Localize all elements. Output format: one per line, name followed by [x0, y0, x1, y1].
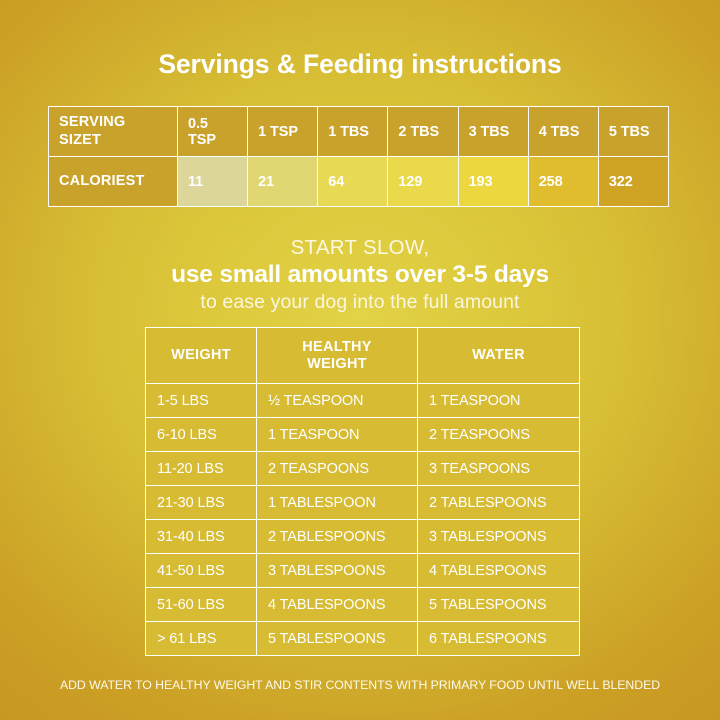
footer-note: ADD WATER TO HEALTHY WEIGHT AND STIR CON…: [0, 678, 720, 692]
feeding-table-row: 41-50 LBS3 TABLESPOONS4 TABLESPOONS: [146, 554, 580, 588]
serving-size-cell: 4 TBS: [528, 107, 598, 157]
calories-cell: 258: [528, 157, 598, 207]
feeding-table-row: 21-30 LBS1 TABLESPOON2 TABLESPOONS: [146, 486, 580, 520]
feeding-row-healthy-weight: 2 TABLESPOONS: [257, 520, 418, 554]
callout-line-3: to ease your dog into the full amount: [0, 291, 720, 314]
feeding-row-water: 1 TEASPOON: [418, 384, 580, 418]
callout-line-1: START SLOW,: [0, 236, 720, 260]
serving-size-cell: 1 TSP: [248, 107, 318, 157]
serving-size-row: SERVING SIZET 0.5 TSP 1 TSP 1 TBS 2 TBS …: [49, 107, 669, 157]
feeding-table: WEIGHT HEALTHY WEIGHT WATER 1-5 LBS½ TEA…: [145, 327, 580, 656]
feeding-table-container: WEIGHT HEALTHY WEIGHT WATER 1-5 LBS½ TEA…: [145, 327, 579, 656]
calories-cell: 193: [458, 157, 528, 207]
calories-row: CALORIEST 11 21 64 129 193 258 322: [49, 157, 669, 207]
serving-size-cell: 2 TBS: [388, 107, 458, 157]
header-weight: WEIGHT: [146, 328, 257, 384]
feeding-table-body: WEIGHT HEALTHY WEIGHT WATER 1-5 LBS½ TEA…: [146, 328, 580, 656]
feeding-row-healthy-weight: 1 TEASPOON: [257, 418, 418, 452]
feeding-table-row: 51-60 LBS4 TABLESPOONS5 TABLESPOONS: [146, 588, 580, 622]
start-slow-callout: START SLOW, use small amounts over 3-5 d…: [0, 236, 720, 315]
serving-size-cell: 0.5 TSP: [178, 107, 248, 157]
header-healthy-weight-line2: WEIGHT: [307, 356, 367, 372]
serving-size-cell: 5 TBS: [598, 107, 668, 157]
feeding-table-row: 31-40 LBS2 TABLESPOONS3 TABLESPOONS: [146, 520, 580, 554]
feeding-row-healthy-weight: ½ TEASPOON: [257, 384, 418, 418]
feeding-table-row: 1-5 LBS½ TEASPOON1 TEASPOON: [146, 384, 580, 418]
feeding-row-water: 4 TABLESPOONS: [418, 554, 580, 588]
header-healthy-weight: HEALTHY WEIGHT: [257, 328, 418, 384]
feeding-row-weight: 51-60 LBS: [146, 588, 257, 622]
calories-cell: 11: [178, 157, 248, 207]
feeding-table-row: 11-20 LBS2 TEASPOONS3 TEASPOONS: [146, 452, 580, 486]
calories-cell: 322: [598, 157, 668, 207]
feeding-row-healthy-weight: 2 TEASPOONS: [257, 452, 418, 486]
serving-size-cell: 3 TBS: [458, 107, 528, 157]
calories-cell: 21: [248, 157, 318, 207]
calories-cell: 64: [318, 157, 388, 207]
feeding-row-weight: 11-20 LBS: [146, 452, 257, 486]
header-water: WATER: [418, 328, 580, 384]
feeding-row-water: 5 TABLESPOONS: [418, 588, 580, 622]
calories-cell: 129: [388, 157, 458, 207]
header-healthy-weight-line1: HEALTHY: [302, 339, 372, 355]
feeding-row-water: 2 TABLESPOONS: [418, 486, 580, 520]
feeding-row-healthy-weight: 5 TABLESPOONS: [257, 622, 418, 656]
calories-label: CALORIEST: [49, 157, 178, 207]
feeding-row-weight: 31-40 LBS: [146, 520, 257, 554]
feeding-row-weight: 41-50 LBS: [146, 554, 257, 588]
feeding-row-weight: > 61 LBS: [146, 622, 257, 656]
page-title: Servings & Feeding instructions: [0, 0, 720, 80]
feeding-row-water: 3 TEASPOONS: [418, 452, 580, 486]
feeding-table-header-row: WEIGHT HEALTHY WEIGHT WATER: [146, 328, 580, 384]
feeding-row-weight: 1-5 LBS: [146, 384, 257, 418]
feeding-row-healthy-weight: 3 TABLESPOONS: [257, 554, 418, 588]
feeding-row-healthy-weight: 1 TABLESPOON: [257, 486, 418, 520]
feeding-row-water: 6 TABLESPOONS: [418, 622, 580, 656]
serving-size-label: SERVING SIZET: [49, 107, 178, 157]
serving-size-cell: 1 TBS: [318, 107, 388, 157]
servings-table: SERVING SIZET 0.5 TSP 1 TSP 1 TBS 2 TBS …: [48, 106, 669, 207]
feeding-row-healthy-weight: 4 TABLESPOONS: [257, 588, 418, 622]
feeding-row-weight: 21-30 LBS: [146, 486, 257, 520]
feeding-table-row: > 61 LBS5 TABLESPOONS6 TABLESPOONS: [146, 622, 580, 656]
feeding-row-weight: 6-10 LBS: [146, 418, 257, 452]
feeding-row-water: 2 TEASPOONS: [418, 418, 580, 452]
servings-table-container: SERVING SIZET 0.5 TSP 1 TSP 1 TBS 2 TBS …: [48, 106, 669, 207]
callout-line-2: use small amounts over 3-5 days: [0, 261, 720, 289]
feeding-row-water: 3 TABLESPOONS: [418, 520, 580, 554]
feeding-table-row: 6-10 LBS1 TEASPOON2 TEASPOONS: [146, 418, 580, 452]
